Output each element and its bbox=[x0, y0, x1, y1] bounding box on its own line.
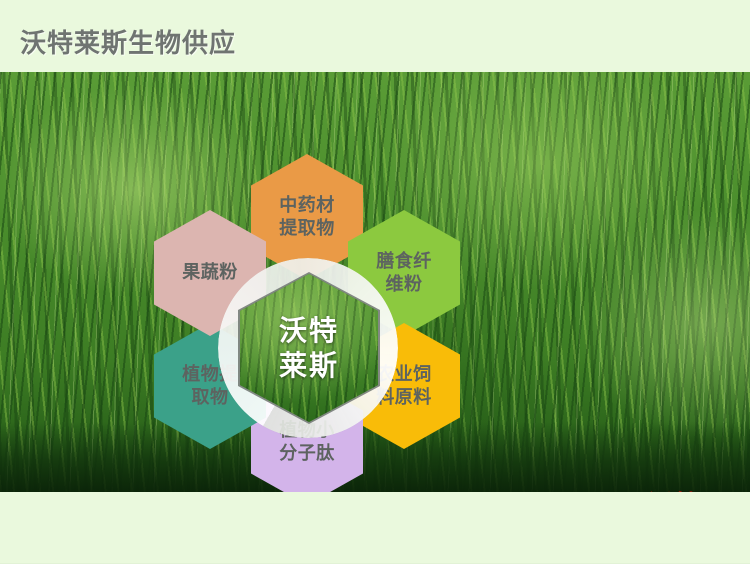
hexagon-fruit-veg-powder-line1: 果蔬粉 bbox=[182, 261, 238, 284]
page-footer bbox=[0, 492, 750, 564]
center-brand-line2: 莱斯 bbox=[279, 348, 339, 383]
hero-banner: 中药材 提取物 膳食纤 维粉 农业饲 料原料 植物小 分子肽 植物提 取物 果蔬… bbox=[0, 72, 750, 492]
hexagon-dietary-fiber-line2: 维粉 bbox=[386, 273, 423, 296]
page-header: 沃特莱斯生物供应 bbox=[0, 0, 750, 72]
hexagon-plant-peptide-line2: 分子肽 bbox=[279, 442, 335, 465]
center-brand-label: 沃特 莱斯 bbox=[238, 272, 380, 424]
center-brand-line1: 沃特 bbox=[279, 313, 339, 348]
hexagon-cluster: 中药材 提取物 膳食纤 维粉 农业饲 料原料 植物小 分子肽 植物提 取物 果蔬… bbox=[130, 154, 485, 492]
hexagon-tcm-extract-line2: 提取物 bbox=[279, 217, 335, 240]
hexagon-dietary-fiber-line1: 膳食纤 bbox=[376, 250, 432, 273]
hexagon-plant-extract-line2: 取物 bbox=[192, 386, 229, 409]
page-title: 沃特莱斯生物供应 bbox=[20, 23, 236, 60]
hexagon-tcm-extract-line1: 中药材 bbox=[279, 194, 335, 217]
page-root: 沃特莱斯生物供应 中药材 提取物 膳食纤 维粉 农业饲 料原料 植物小 分子肽 bbox=[0, 0, 750, 564]
